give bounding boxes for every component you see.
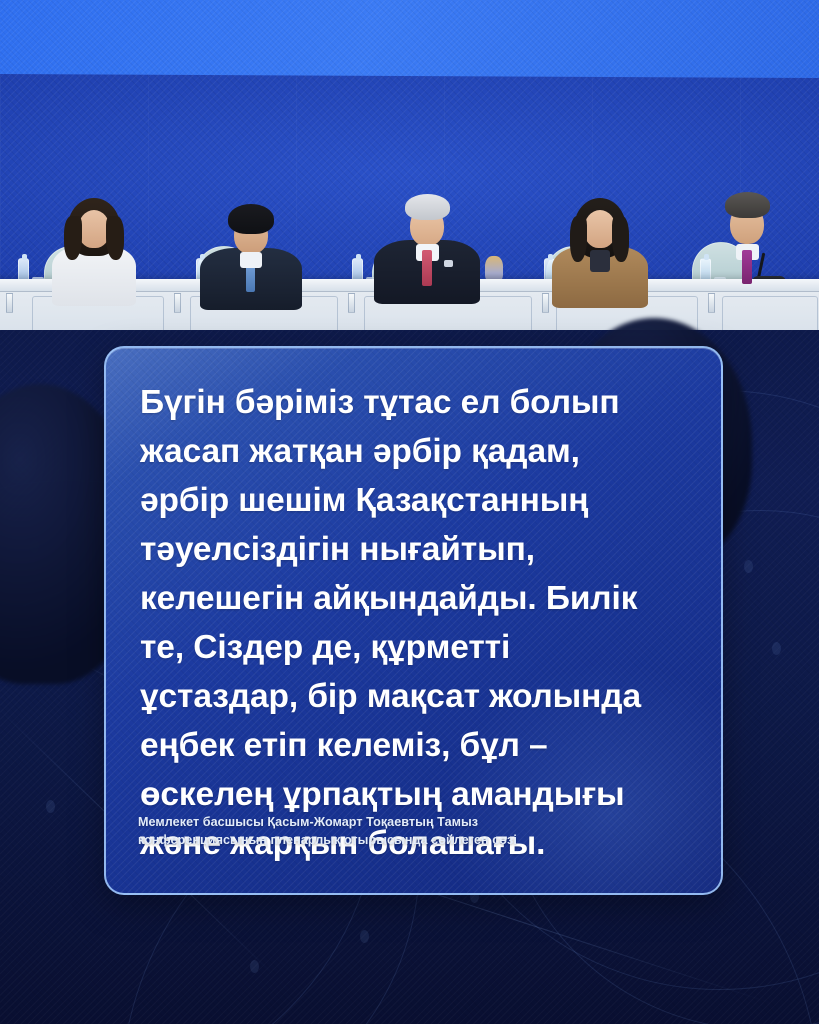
- panelist-1: [46, 198, 142, 290]
- table-post-2: [174, 293, 181, 313]
- quote-text: Бүгін бәріміз тұтас ел болып жасап жатқа…: [140, 378, 687, 868]
- quote-attribution: Мемлекет басшысы Қасым-Жомарт Тоқаевтың …: [138, 814, 678, 849]
- panelist-4: [548, 198, 652, 292]
- panelist-4-hair-right: [612, 216, 629, 262]
- ornament-petal-15: [250, 960, 259, 973]
- president-hair: [405, 194, 450, 220]
- panelist-1-hair-side: [64, 216, 82, 260]
- president-tie: [422, 250, 432, 286]
- panel-stage-photo: [0, 70, 819, 360]
- panelist-1-hair-side-right: [106, 216, 124, 260]
- poster-canvas: Бүгін бәріміз тұтас ел болып жасап жатқа…: [0, 0, 819, 1024]
- panelist-5-hair: [725, 192, 770, 218]
- quote-card: Бүгін бәріміз тұтас ел болып жасап жатқа…: [104, 346, 723, 895]
- panelist-4-hair-left: [570, 216, 587, 262]
- top-strip-texture: [0, 0, 819, 86]
- panelist-2-hair: [228, 204, 274, 234]
- panelist-3-president: [372, 192, 484, 292]
- ornament-petal-14: [360, 930, 369, 943]
- panelist-2: [198, 202, 306, 292]
- table-post-4: [542, 293, 549, 313]
- panelist-2-shirt: [240, 252, 262, 268]
- panelist-5-tie: [742, 250, 752, 284]
- panelist-5: [696, 190, 802, 290]
- panelist-4-blouse: [590, 250, 610, 272]
- president-lapel-pin: [444, 260, 453, 267]
- table-post-1: [6, 293, 13, 313]
- ornament-petal-8: [744, 560, 753, 573]
- top-accent-strip: [0, 0, 819, 86]
- ornament-petal-9: [772, 642, 781, 655]
- quote-card-content: Бүгін бәріміз тұтас ел болып жасап жатқа…: [106, 348, 721, 868]
- ornament-petal-5: [46, 800, 55, 813]
- table-post-3: [348, 293, 355, 313]
